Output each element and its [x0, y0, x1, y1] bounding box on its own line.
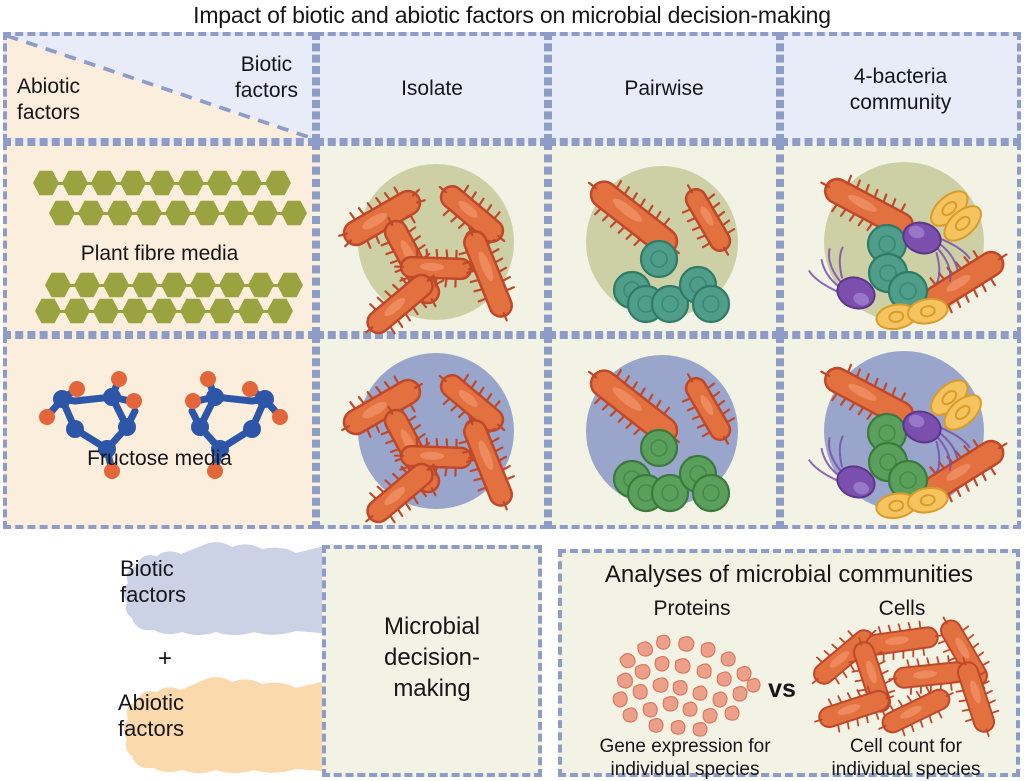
- petri-dish-icon: [320, 339, 552, 533]
- proteins-subtitle: Proteins: [582, 597, 802, 621]
- protein-cluster-icon: [598, 625, 788, 733]
- column-header-pairwise-label: Pairwise: [552, 76, 776, 102]
- plate-fructose-pairwise: [548, 335, 780, 529]
- corner-biotic-label: Bioticfactors: [235, 52, 298, 103]
- plate-plant-fibre-pairwise: [548, 142, 780, 335]
- petri-dish-icon: [552, 146, 784, 339]
- fructose-molecule-icon: [7, 339, 320, 533]
- petri-dish-icon: [784, 339, 1024, 533]
- microbial-decision-making-box: Microbialdecision-making: [322, 545, 542, 777]
- figure-title: Impact of biotic and abiotic factors on …: [0, 0, 1024, 30]
- abiotic-factors-blob-label: Abioticfactors: [118, 690, 184, 743]
- gene-expression-caption: Gene expression forindividual species: [570, 735, 800, 781]
- matrix-corner-cell: Abioticfactors Bioticfactors: [3, 32, 316, 142]
- analyses-panel: Analyses of microbial communities Protei…: [558, 549, 1020, 777]
- plate-fructose-isolate: [316, 335, 548, 529]
- row-header-fructose: Fructose media: [3, 335, 316, 529]
- petri-dish-icon: [320, 146, 552, 339]
- row-header-plant-fibre-label: Plant fibre media: [7, 242, 312, 266]
- plate-plant-fibre-isolate: [316, 142, 548, 335]
- row-header-fructose-label: Fructose media: [7, 447, 312, 471]
- cell-count-caption: Cell count forindividual species: [798, 735, 1014, 781]
- plate-plant-fibre-community: [780, 142, 1021, 335]
- corner-abiotic-label: Abioticfactors: [17, 74, 80, 125]
- plus-symbol: +: [130, 645, 200, 673]
- column-header-community: 4-bacteriacommunity: [780, 32, 1021, 142]
- comparison-matrix: Abioticfactors Bioticfactors Isolate Pai…: [3, 32, 1021, 529]
- biotic-factors-blob-label: Bioticfactors: [120, 556, 186, 609]
- analyses-heading: Analyses of microbial communities: [562, 561, 1016, 589]
- cells-subtitle: Cells: [802, 597, 1002, 621]
- plate-fructose-community: [780, 335, 1021, 529]
- figure-root: Impact of biotic and abiotic factors on …: [0, 0, 1024, 781]
- petri-dish-icon: [784, 146, 1024, 339]
- vs-comparator: vs: [762, 675, 802, 704]
- microbial-decision-making-label: Microbialdecision-making: [326, 611, 538, 705]
- row-header-plant-fibre: Plant fibre media: [3, 142, 316, 335]
- column-header-isolate: Isolate: [316, 32, 548, 142]
- column-header-pairwise: Pairwise: [548, 32, 780, 142]
- column-header-isolate-label: Isolate: [320, 76, 544, 102]
- petri-dish-icon: [552, 339, 784, 533]
- column-header-community-label: 4-bacteriacommunity: [784, 64, 1017, 115]
- bacteria-cluster-icon: [798, 619, 1008, 731]
